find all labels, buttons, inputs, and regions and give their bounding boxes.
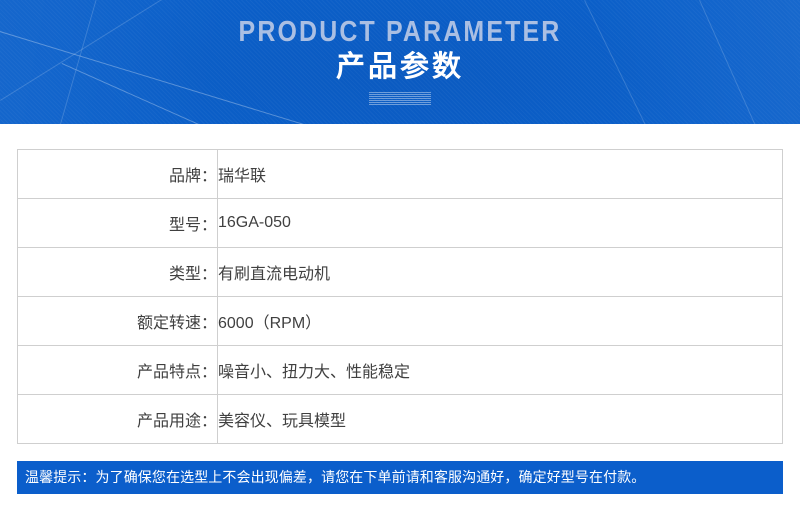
spec-value-model: 16GA-050 [218,199,783,248]
spec-label-rated-speed: 额定转速： [18,297,218,346]
spec-value-rated-speed: 6000（RPM） [218,297,783,346]
product-parameter-table: 品牌： 瑞华联 型号： 16GA-050 类型： 有刷直流电动机 额定转速： 6… [17,149,783,444]
spec-label-features: 产品特点： [18,346,218,395]
page-header-banner: PRODUCT PARAMETER 产品参数 [0,0,800,124]
spec-value-type: 有刷直流电动机 [218,248,783,297]
spec-table-body: 品牌： 瑞华联 型号： 16GA-050 类型： 有刷直流电动机 额定转速： 6… [18,150,783,444]
spec-value-applications: 美容仪、玩具模型 [218,395,783,444]
table-row: 额定转速： 6000（RPM） [18,297,783,346]
table-row: 产品特点： 噪音小、扭力大、性能稳定 [18,346,783,395]
page-title-english: PRODUCT PARAMETER [56,0,744,47]
spec-value-brand: 瑞华联 [218,150,783,199]
title-decorative-lines [369,92,431,105]
table-row: 类型： 有刷直流电动机 [18,248,783,297]
spec-label-model: 型号： [18,199,218,248]
spec-label-brand: 品牌： [18,150,218,199]
table-row: 产品用途： 美容仪、玩具模型 [18,395,783,444]
spec-label-type: 类型： [18,248,218,297]
page-title-chinese: 产品参数 [0,47,800,84]
warm-tip-banner: 温馨提示：为了确保您在选型上不会出现偏差，请您在下单前请和客服沟通好，确定好型号… [17,461,783,494]
spec-value-features: 噪音小、扭力大、性能稳定 [218,346,783,395]
spec-label-applications: 产品用途： [18,395,218,444]
table-row: 型号： 16GA-050 [18,199,783,248]
header-title-group: PRODUCT PARAMETER 产品参数 [0,0,800,105]
spec-table-container: 品牌： 瑞华联 型号： 16GA-050 类型： 有刷直流电动机 额定转速： 6… [0,124,800,444]
table-row: 品牌： 瑞华联 [18,150,783,199]
